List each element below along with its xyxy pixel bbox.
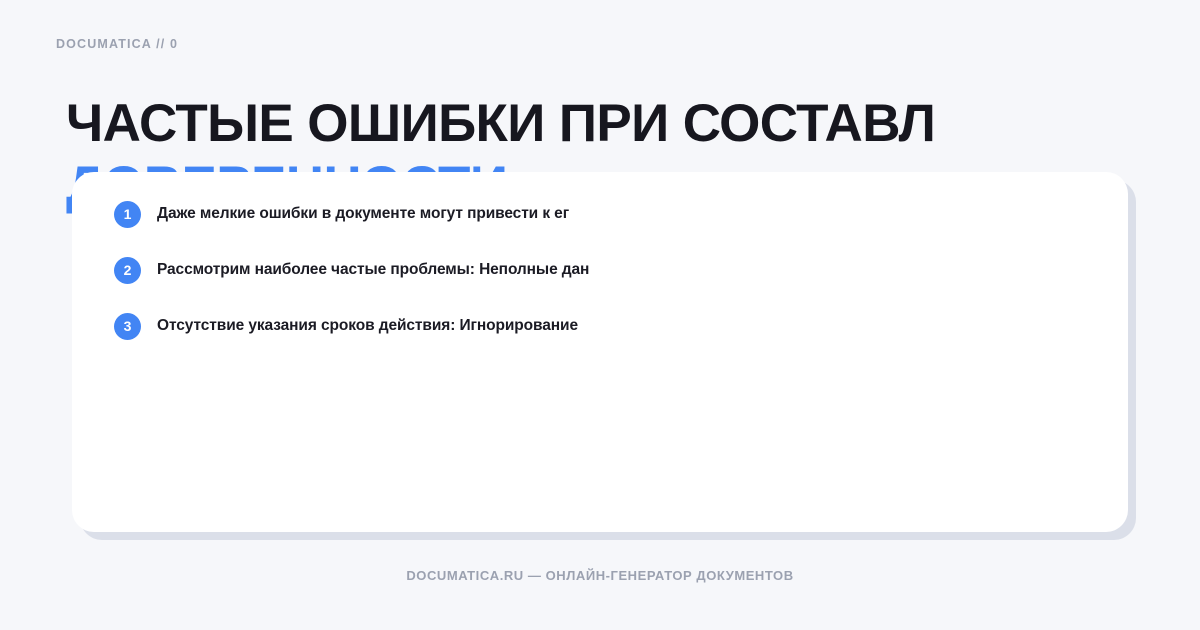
brand-eyebrow: DOCUMATICA // 0 (56, 37, 178, 51)
content-card: 1 Даже мелкие ошибки в документе могут п… (72, 172, 1128, 532)
bullet-number-badge: 1 (114, 201, 141, 228)
list-item: 3 Отсутствие указания сроков действия: И… (114, 312, 1088, 340)
bullet-text: Отсутствие указания сроков действия: Игн… (157, 317, 578, 335)
bullet-number-badge: 2 (114, 257, 141, 284)
card-surface: 1 Даже мелкие ошибки в документе могут п… (72, 172, 1128, 532)
bullet-text: Рассмотрим наиболее частые проблемы: Неп… (157, 261, 589, 279)
bullet-number-badge: 3 (114, 313, 141, 340)
bullet-text: Даже мелкие ошибки в документе могут при… (157, 205, 569, 223)
slide-root: DOCUMATICA // 0 ЧАСТЫЕ ОШИБКИ ПРИ СОСТАВ… (0, 0, 1200, 630)
list-item: 1 Даже мелкие ошибки в документе могут п… (114, 200, 1088, 228)
bullet-list: 1 Даже мелкие ошибки в документе могут п… (114, 200, 1088, 340)
page-title-line-1: ЧАСТЫЕ ОШИБКИ ПРИ СОСТАВЛ (66, 93, 1186, 155)
list-item: 2 Рассмотрим наиболее частые проблемы: Н… (114, 256, 1088, 284)
footer-attribution: DOCUMATICA.RU — ОНЛАЙН-ГЕНЕРАТОР ДОКУМЕН… (0, 568, 1200, 583)
